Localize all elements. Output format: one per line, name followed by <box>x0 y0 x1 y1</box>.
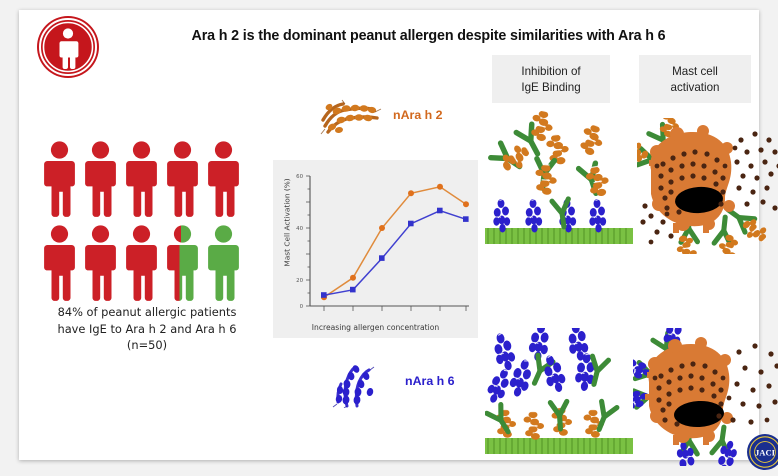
people-row-top <box>41 140 242 218</box>
person-icon <box>205 140 242 218</box>
people-row-bottom <box>41 224 242 302</box>
person-icon <box>123 224 160 302</box>
mast-cell-activation-chart: Mast Cell Activation (%) 60 40 <box>273 160 478 338</box>
left-caption-line1: 84% of peanut allergic patients <box>31 304 263 321</box>
left-caption-line2: have IgE to Ara h 2 and Ara h 6 <box>31 321 263 338</box>
person-icon-green <box>205 224 242 302</box>
header-inhibition-of-ige-binding: Inhibition of IgE Binding <box>492 55 610 103</box>
person-in-circle-icon <box>39 18 97 76</box>
jaci-seal-text: JACI <box>755 447 776 457</box>
person-icon <box>82 224 119 302</box>
person-icon <box>164 140 201 218</box>
left-caption-line3: (n=50) <box>31 337 263 354</box>
protein-label-nara-h-6: nAra h 6 <box>405 374 455 388</box>
protein-nara-h-6: nAra h 6 <box>325 362 475 408</box>
bound-proteins-blue <box>493 199 606 233</box>
chart-plot-area: 60 40 20 0 <box>273 160 478 338</box>
header-mastcell-line1: Mast cell <box>639 64 751 80</box>
svg-text:0: 0 <box>300 304 304 310</box>
free-proteins-blue <box>485 328 608 406</box>
svg-text:20: 20 <box>296 278 303 284</box>
person-icon <box>82 140 119 218</box>
protein-ribbon-icon <box>315 96 389 140</box>
granules-released <box>730 343 778 424</box>
page-title: Ara h 2 is the dominant peanut allergen … <box>111 28 746 45</box>
illustration-ige-binding-arah2 <box>485 110 633 250</box>
header-mastcell-line2: activation <box>639 80 751 96</box>
person-icon <box>123 140 160 218</box>
protein-nara-h-2: nAra h 2 <box>315 96 465 142</box>
svg-text:40: 40 <box>296 226 303 232</box>
protein-label-nara-h-2: nAra h 2 <box>393 108 443 122</box>
illustration-ige-binding-arah6 <box>485 328 633 460</box>
person-icon <box>41 224 78 302</box>
left-caption: 84% of peanut allergic patients have IgE… <box>31 304 263 354</box>
svg-text:60: 60 <box>296 174 303 180</box>
cell-surface <box>485 438 633 454</box>
illustration-mast-cell-arah2 <box>637 118 778 254</box>
jaci-seal-icon: JACI <box>746 433 778 471</box>
bound-proteins-orange <box>487 401 617 439</box>
person-icon-partial <box>164 224 201 302</box>
free-proteins-orange <box>491 110 611 198</box>
abstract-card: Ara h 2 is the dominant peanut allergen … <box>19 10 759 460</box>
header-inhibition-line2: IgE Binding <box>492 80 610 96</box>
person-icon <box>41 140 78 218</box>
protein-ribbon-icon <box>325 362 395 408</box>
header-mast-cell-activation: Mast cell activation <box>639 55 751 103</box>
people-pictogram <box>41 140 251 300</box>
chart-x-axis-label: Increasing allergen concentration <box>273 323 478 332</box>
cell-surface <box>485 228 633 244</box>
header-inhibition-line1: Inhibition of <box>492 64 610 80</box>
